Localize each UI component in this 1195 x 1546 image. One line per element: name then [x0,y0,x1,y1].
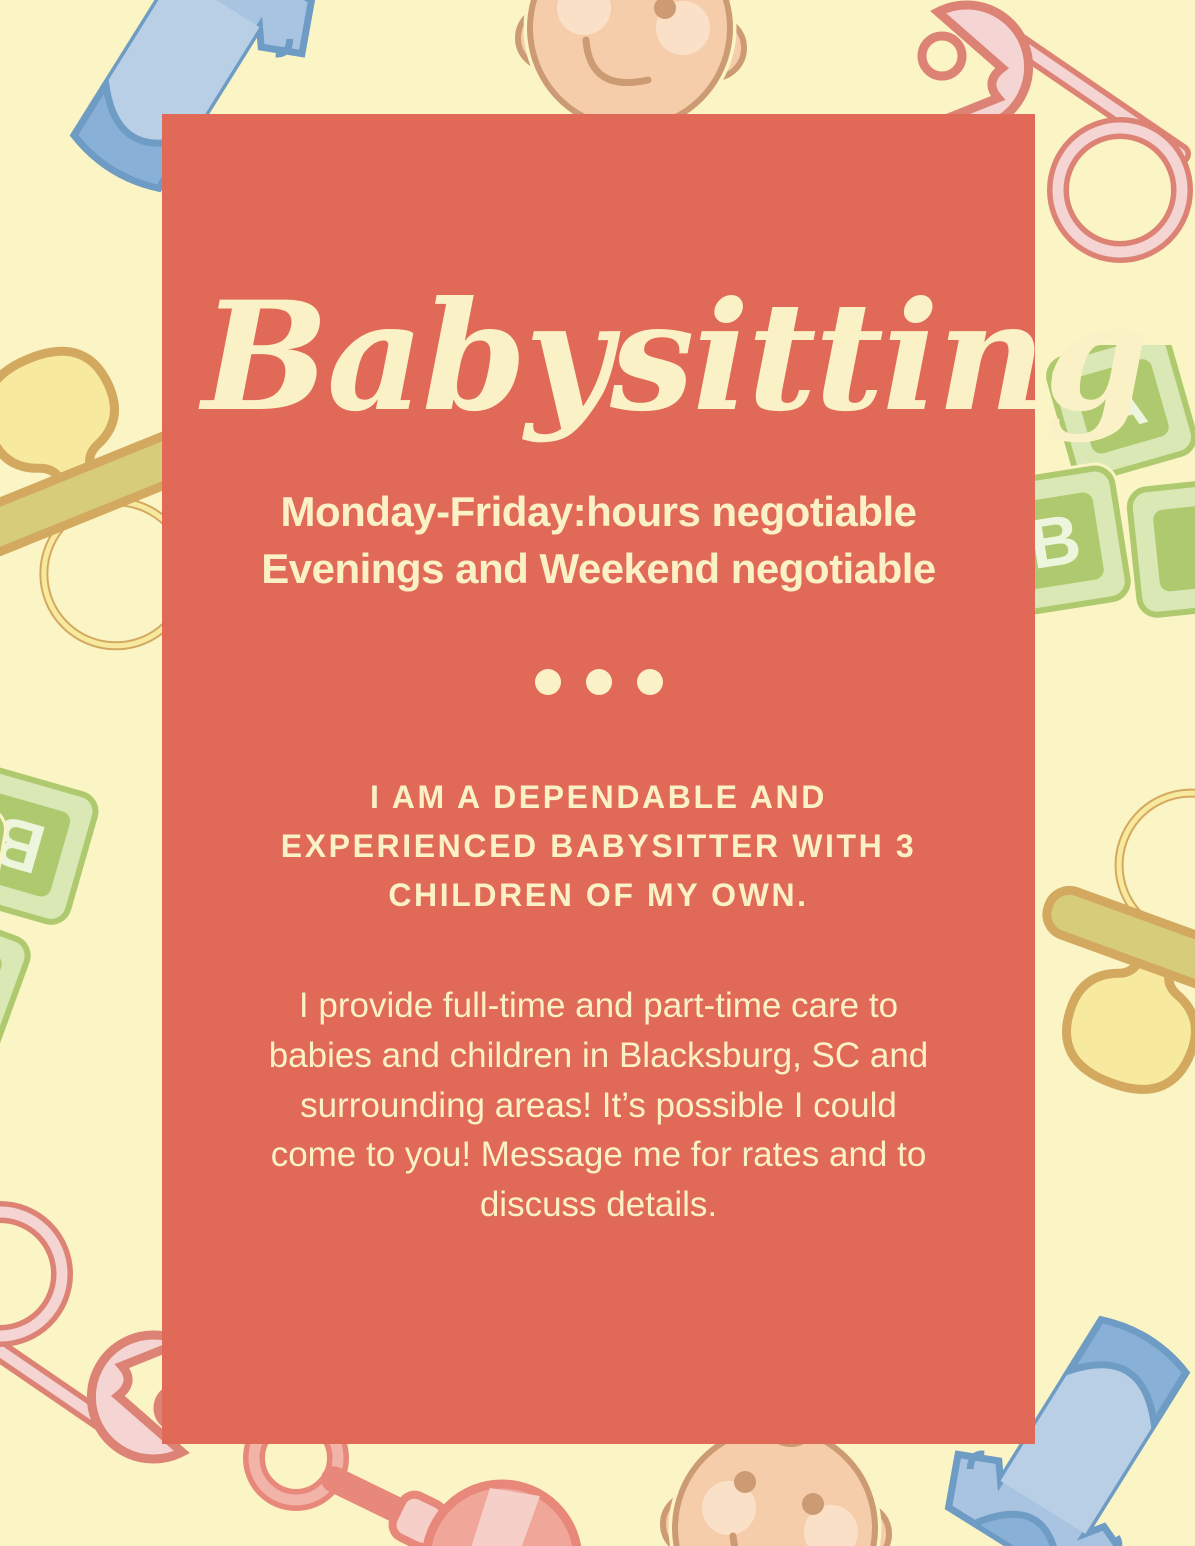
body-line-4: come to you! Message me for rates and to [214,1130,983,1180]
divider-dot-2 [586,669,612,695]
hours-block: Monday-Friday:hours negotiable Evenings … [202,484,995,597]
hours-line-2: Evenings and Weekend negotiable [202,541,995,598]
body-block: I provide full-time and part-time care t… [202,981,995,1229]
hours-line-1: Monday-Friday:hours negotiable [202,484,995,541]
content-card: Babysitting Monday-Friday:hours negotiab… [162,114,1035,1444]
divider-dots [202,669,995,695]
babysitting-flyer: A B B [0,0,1195,1546]
pacifier-right-icon [1012,780,1195,1110]
body-line-5: discuss details. [214,1180,983,1230]
headline-block: I AM A DEPENDABLE AND EXPERIENCED BABYSI… [202,773,995,919]
body-line-1: I provide full-time and part-time care t… [214,981,983,1031]
divider-dot-1 [535,669,561,695]
headline-line-1: I AM A DEPENDABLE AND [224,773,973,822]
body-line-2: babies and children in Blacksburg, SC an… [214,1031,983,1081]
body-line-3: surrounding areas! It’s possible I could [214,1081,983,1131]
page-title: Babysitting [202,114,995,432]
headline-line-3: CHILDREN OF MY OWN. [224,871,973,920]
headline-line-2: EXPERIENCED BABYSITTER WITH 3 [224,822,973,871]
divider-dot-3 [637,669,663,695]
